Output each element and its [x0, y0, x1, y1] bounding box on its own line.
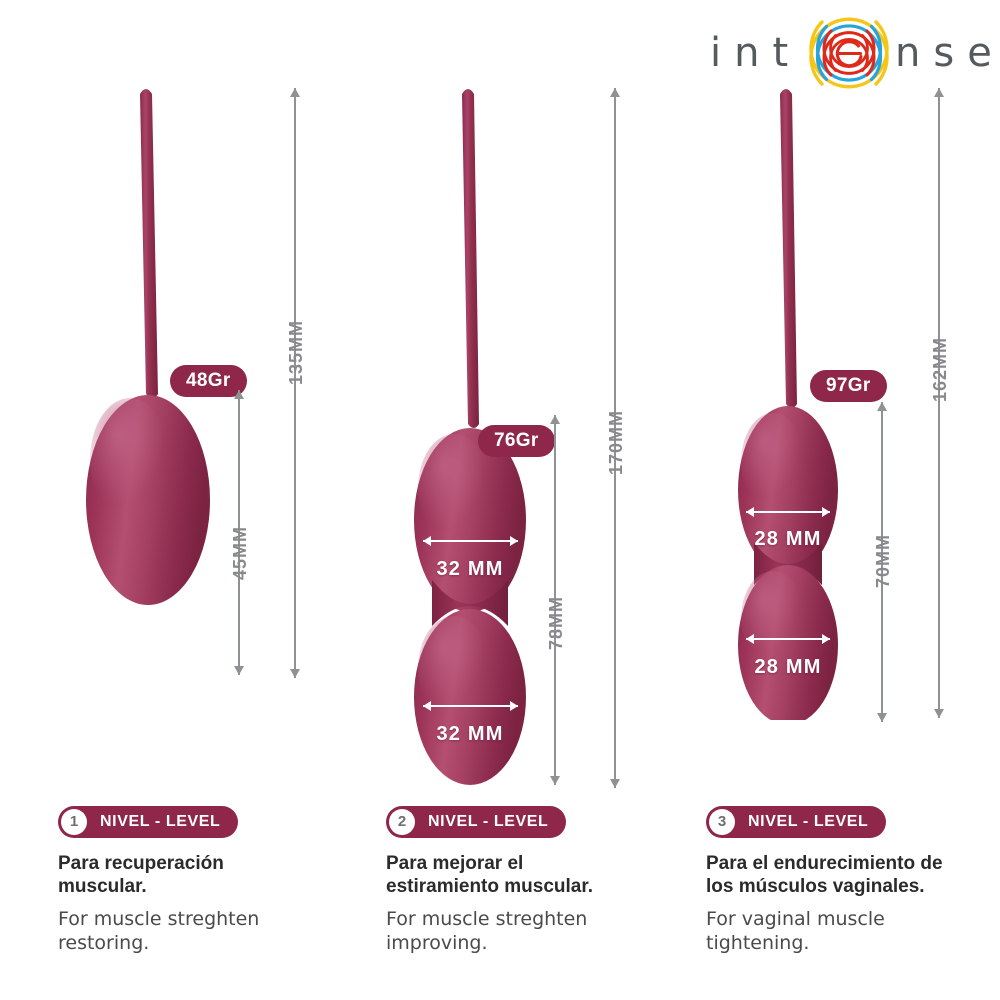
level-title-es-2-line2: estiramiento muscular.: [386, 875, 686, 898]
measure-label-width-lower-level-2: 32 MM: [400, 723, 540, 746]
measure-width-lower-level-3: [746, 633, 830, 645]
arrow-head-right: [510, 536, 518, 546]
measure-width-lower-level-2: [423, 700, 518, 712]
measure-label-width-lower-level-3: 28 MM: [718, 656, 858, 679]
level-badge-1: 1 NIVEL - LEVEL: [58, 806, 238, 838]
wordmark-prefix: int: [710, 30, 801, 76]
level-pill-label-1: NIVEL - LEVEL: [100, 806, 220, 838]
measure-width-upper-level-3: [746, 506, 830, 518]
level-text-en-2-line1: For muscle streghten: [386, 908, 686, 932]
level-card-3: 3 NIVEL - LEVEL Para el endurecimiento d…: [706, 806, 1000, 956]
arrow-head-right: [822, 507, 830, 517]
level-card-2: 2 NIVEL - LEVEL Para mejorar el estirami…: [386, 806, 686, 956]
arrow-head-down: [934, 709, 944, 718]
wordmark-suffix: nse: [895, 30, 1000, 76]
arrow-head-up: [290, 88, 300, 97]
level-text-en-3-line1: For vaginal muscle: [706, 908, 1000, 932]
level-pill-label-2: NIVEL - LEVEL: [428, 806, 548, 838]
arrow-head-down: [290, 669, 300, 678]
arrow-head-down: [877, 713, 887, 722]
level-text-en-1-line2: restoring.: [58, 932, 358, 956]
measure-line: [423, 540, 518, 542]
measure-line: [938, 88, 940, 718]
level-title-es-3: Para el endurecimiento de los músculos v…: [706, 852, 1000, 898]
brand-logo: int nse: [710, 12, 995, 90]
product-1-illustration: [60, 80, 360, 720]
arrow-head-right: [510, 701, 518, 711]
arrow-head-up: [550, 415, 560, 424]
infographic-canvas: int nse: [0, 0, 1000, 1000]
measure-total-length-level-3: [932, 88, 946, 718]
weight-badge-level-2: 76Gr: [478, 425, 555, 457]
level-title-es-2-line1: Para mejorar el: [386, 852, 686, 875]
arrow-head-down: [234, 666, 244, 675]
arrow-head-left: [423, 701, 431, 711]
measure-label-total-length-level-3: 162MM: [930, 337, 951, 402]
arrow-head-up: [877, 402, 887, 411]
level-text-en-2-line2: improving.: [386, 932, 686, 956]
arrow-head-up: [234, 390, 244, 399]
level-title-es-3-line1: Para el endurecimiento de: [706, 852, 1000, 875]
level-number-3: 3: [709, 809, 735, 835]
product-level-1: 48Gr 45MM 135MM: [60, 80, 360, 720]
arrow-head-left: [423, 536, 431, 546]
product-level-3: 97Gr 28 MM 28 MM 70MM 162MM: [700, 80, 1000, 720]
measure-label-balls-height-level-2: 78MM: [546, 596, 567, 650]
measure-label-total-length-level-1: 135MM: [286, 320, 307, 385]
level-text-en-3: For vaginal muscle tightening.: [706, 908, 1000, 956]
measure-label-width-upper-level-2: 32 MM: [400, 558, 540, 581]
level-text-en-1-line1: For muscle streghten: [58, 908, 358, 932]
product-level-2: 76Gr 32 MM 32 MM 78MM 170MM: [380, 80, 680, 800]
measure-line: [746, 638, 830, 640]
measure-width-upper-level-2: [423, 535, 518, 547]
level-number-1: 1: [61, 809, 87, 835]
level-text-en-1: For muscle streghten restoring.: [58, 908, 358, 956]
weight-badge-level-3: 97Gr: [810, 370, 887, 402]
level-badge-2: 2 NIVEL - LEVEL: [386, 806, 566, 838]
arrow-head-up: [934, 88, 944, 97]
measure-line: [423, 705, 518, 707]
level-title-es-3-line2: los músculos vaginales.: [706, 875, 1000, 898]
measure-label-ball-height-level-1: 45MM: [230, 526, 251, 580]
level-card-1: 1 NIVEL - LEVEL Para recuperación muscul…: [58, 806, 358, 956]
level-badge-3: 3 NIVEL - LEVEL: [706, 806, 886, 838]
level-text-en-2: For muscle streghten improving.: [386, 908, 686, 956]
arrow-head-up: [610, 88, 620, 97]
arrow-head-right: [822, 634, 830, 644]
arrow-head-down: [610, 779, 620, 788]
measure-label-balls-height-level-3: 70MM: [873, 534, 894, 588]
level-text-en-3-line2: tightening.: [706, 932, 1000, 956]
level-title-es-2: Para mejorar el estiramiento muscular.: [386, 852, 686, 898]
arrow-head-down: [550, 776, 560, 785]
measure-line: [746, 511, 830, 513]
arrow-head-left: [746, 634, 754, 644]
level-number-2: 2: [389, 809, 415, 835]
arrow-head-left: [746, 507, 754, 517]
level-title-es-1: Para recuperación muscular.: [58, 852, 358, 898]
level-pill-label-3: NIVEL - LEVEL: [748, 806, 868, 838]
level-title-es-1-line1: Para recuperación: [58, 852, 358, 875]
level-title-es-1-line2: muscular.: [58, 875, 358, 898]
measure-label-width-upper-level-3: 28 MM: [718, 528, 858, 551]
measure-label-total-length-level-2: 170MM: [606, 410, 627, 475]
